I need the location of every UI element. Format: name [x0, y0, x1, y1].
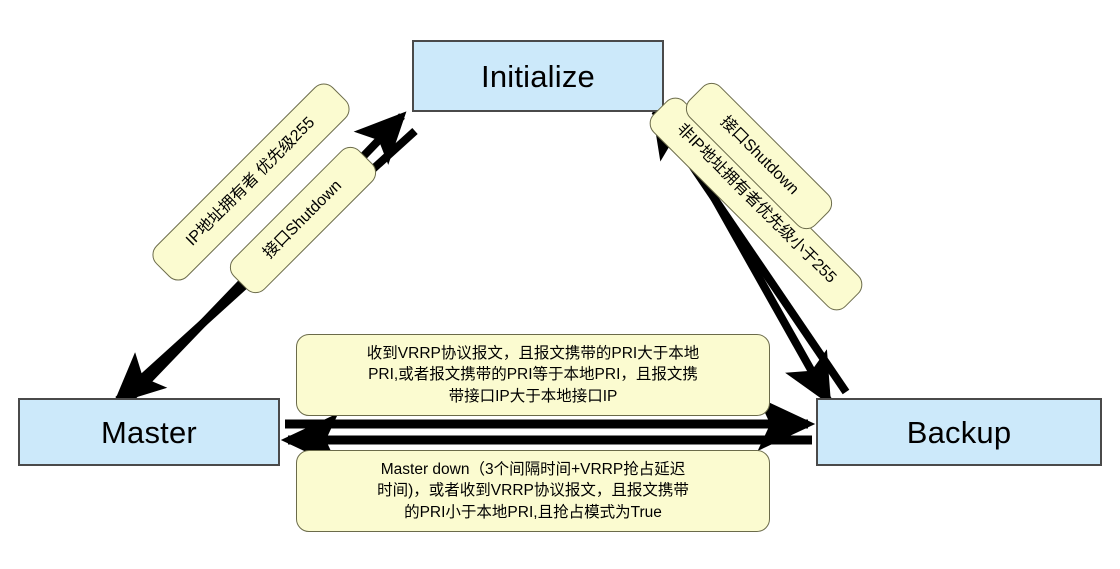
note-master-to-backup-condition: 收到VRRP协议报文，且报文携带的PRI大于本地 PRI,或者报文携带的PRI等… — [296, 334, 770, 416]
condition-line-1: 收到VRRP协议报文，且报文携带的PRI大于本地 — [367, 345, 699, 362]
condition-line-2: PRI,或者报文携带的PRI等于本地PRI，且报文携 — [368, 366, 698, 383]
condition-line-2: 时间)，或者收到VRRP协议报文，且报文携带 — [377, 482, 689, 499]
state-master[interactable]: Master — [18, 398, 280, 466]
state-backup[interactable]: Backup — [816, 398, 1102, 466]
note-backup-to-master-condition-text: Master down（3个间隔时间+VRRP抢占延迟 时间)，或者收到VRRP… — [377, 459, 689, 523]
condition-line-1: Master down（3个间隔时间+VRRP抢占延迟 — [381, 461, 685, 478]
note-backup-to-master-condition: Master down（3个间隔时间+VRRP抢占延迟 时间)，或者收到VRRP… — [296, 450, 770, 532]
note-master-to-backup-condition-text: 收到VRRP协议报文，且报文携带的PRI大于本地 PRI,或者报文携带的PRI等… — [367, 343, 699, 407]
state-initialize-label: Initialize — [481, 61, 595, 92]
condition-line-3: 带接口IP大于本地接口IP — [449, 388, 618, 405]
diagram-canvas: Initialize Master Backup IP地址拥有者 优先级255 … — [0, 0, 1120, 569]
condition-line-3: 的PRI小于本地PRI,且抢占模式为True — [404, 504, 662, 521]
state-backup-label: Backup — [907, 417, 1012, 448]
state-initialize[interactable]: Initialize — [412, 40, 664, 112]
state-master-label: Master — [101, 417, 197, 448]
